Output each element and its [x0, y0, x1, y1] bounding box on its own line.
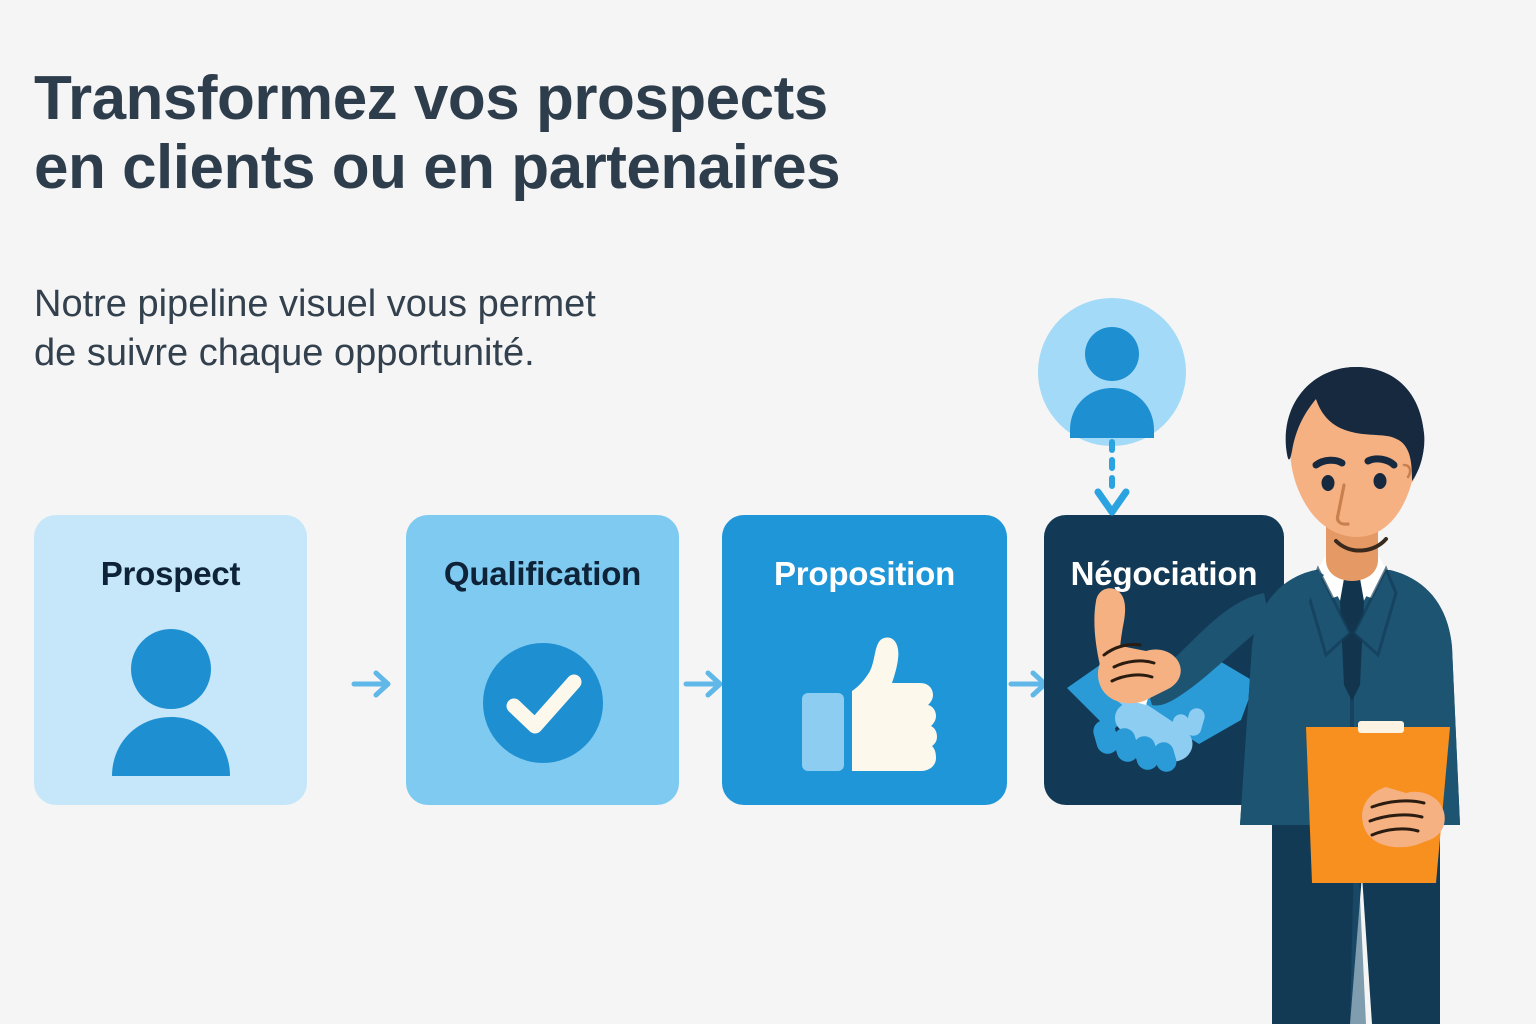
stage-label-proposition: Proposition [722, 555, 1007, 593]
person-icon [34, 613, 307, 793]
page-subtitle: Notre pipeline visuel vous permet de sui… [34, 280, 894, 377]
headline-line-1: Transformez vos prospects [34, 64, 1094, 133]
stage-label-qualification: Qualification [406, 555, 679, 593]
stage-label-prospect: Prospect [34, 555, 307, 593]
pipeline-stages: Prospect Qualification [34, 515, 1254, 805]
headline-line-2: en clients ou en partenaires [34, 133, 1094, 202]
thumbs-up-icon [722, 613, 1007, 793]
arrow-right-icon [352, 667, 398, 701]
pipeline-stage-proposition[interactable]: Proposition [722, 515, 1007, 805]
pipeline-stage-prospect[interactable]: Prospect [34, 515, 307, 805]
arrow-down-dashed-icon [1090, 440, 1134, 518]
pipeline-stage-qualification[interactable]: Qualification [406, 515, 679, 805]
subtitle-line-1: Notre pipeline visuel vous permet [34, 280, 894, 329]
businessman-illustration [1140, 355, 1536, 1024]
check-circle-icon [406, 613, 679, 793]
page-title: Transformez vos prospects en clients ou … [34, 64, 1094, 203]
subtitle-line-2: de suivre chaque opportunité. [34, 329, 894, 378]
poster-canvas: Transformez vos prospects en clients ou … [0, 0, 1536, 1024]
